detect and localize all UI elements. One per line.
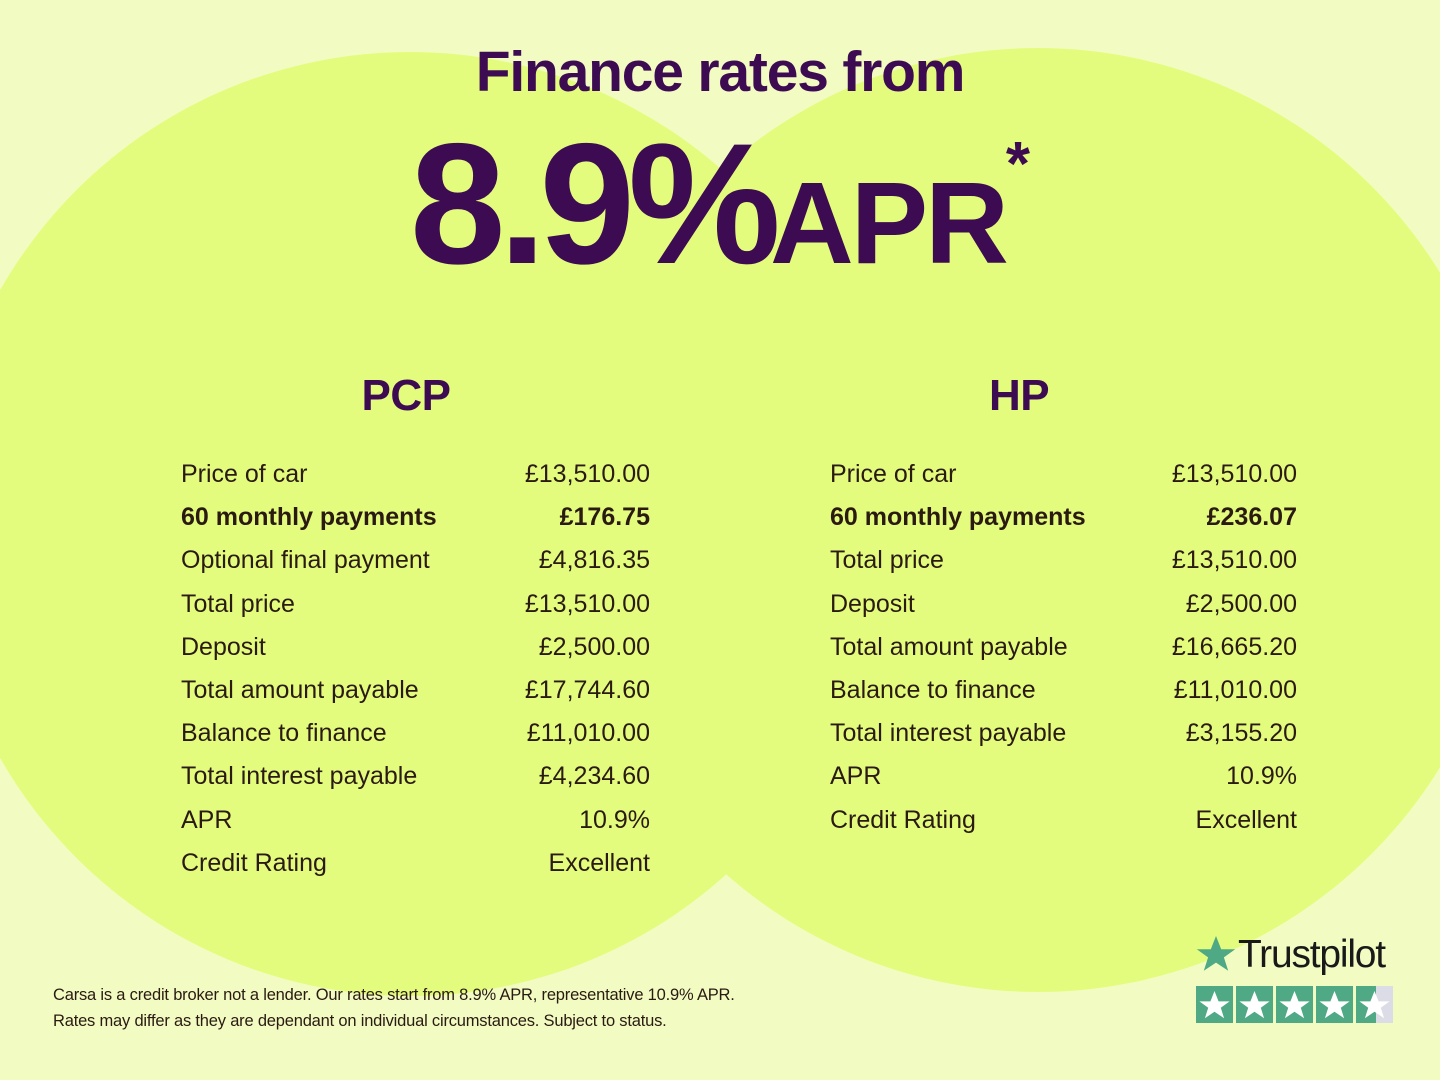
table-row: Balance to finance£11,010.00 (160, 721, 660, 764)
table-row: 60 monthly payments£236.07 (810, 505, 1308, 548)
row-label: Total interest payable (830, 721, 1066, 746)
row-label: APR (830, 764, 881, 789)
row-value: £16,665.20 (1172, 635, 1297, 660)
row-value: £4,234.60 (539, 764, 650, 789)
star-icon (1276, 986, 1313, 1023)
row-label: Price of car (830, 462, 956, 487)
table-row: APR10.9% (810, 764, 1308, 807)
row-value: £13,510.00 (1172, 548, 1297, 573)
finance-table-hp: HP Price of car£13,510.0060 monthly paym… (810, 374, 1308, 851)
row-label: APR (181, 808, 232, 833)
row-label: 60 monthly payments (830, 505, 1086, 530)
star-icon (1316, 986, 1353, 1023)
trustpilot-logo: Trustpilot (1196, 930, 1396, 978)
trustpilot-star-2[interactable] (1236, 986, 1273, 1023)
footnote-asterisk: * (1006, 130, 1030, 199)
row-value: £4,816.35 (539, 548, 650, 573)
row-label: Price of car (181, 462, 307, 487)
table-row: Credit RatingExcellent (160, 851, 660, 894)
trustpilot-star-icon (1196, 935, 1236, 973)
rate-percentage: 8.9% (410, 118, 774, 290)
table-row: Total interest payable£3,155.20 (810, 721, 1308, 764)
row-label: Total amount payable (830, 635, 1068, 660)
row-label: Total price (830, 548, 944, 573)
trustpilot-star-3[interactable] (1276, 986, 1313, 1023)
page-title: Finance rates from (0, 44, 1440, 101)
table-row: Total interest payable£4,234.60 (160, 764, 660, 807)
table-row: Credit RatingExcellent (810, 808, 1308, 851)
trustpilot-wordmark-text: Trustpilot (1238, 935, 1385, 974)
rate-unit-text: APR (770, 158, 1006, 288)
row-value: Excellent (1196, 808, 1297, 833)
rate-unit-label: APR* (770, 165, 1030, 281)
trustpilot-rating-stars[interactable] (1196, 986, 1396, 1023)
table-row: Deposit£2,500.00 (810, 592, 1308, 635)
headline-rate: 8.9% APR* (0, 118, 1440, 318)
table-row: Optional final payment£4,816.35 (160, 548, 660, 591)
row-value: £13,510.00 (525, 462, 650, 487)
row-value: £3,155.20 (1186, 721, 1297, 746)
trustpilot-star-1[interactable] (1196, 986, 1233, 1023)
row-value: £176.75 (560, 505, 650, 530)
table-row: APR10.9% (160, 808, 660, 851)
star-icon (1356, 986, 1393, 1023)
row-value: £13,510.00 (1172, 462, 1297, 487)
row-label: Deposit (181, 635, 266, 660)
row-value: £236.07 (1207, 505, 1297, 530)
table-row: Total amount payable£17,744.60 (160, 678, 660, 721)
trustpilot-star-5[interactable] (1356, 986, 1393, 1023)
row-label: Credit Rating (181, 851, 327, 876)
row-value: £2,500.00 (539, 635, 650, 660)
row-label: Total amount payable (181, 678, 419, 703)
row-label: 60 monthly payments (181, 505, 437, 530)
row-value: £11,010.00 (1174, 678, 1297, 703)
trustpilot-widget[interactable]: Trustpilot (1196, 930, 1396, 1023)
star-icon (1236, 986, 1273, 1023)
table-title-hp: HP (810, 374, 1308, 426)
table-row: Deposit£2,500.00 (160, 635, 660, 678)
row-value: £13,510.00 (525, 592, 650, 617)
row-label: Optional final payment (181, 548, 430, 573)
row-label: Credit Rating (830, 808, 976, 833)
table-row: Total price£13,510.00 (810, 548, 1308, 591)
table-row: Total price£13,510.00 (160, 592, 660, 635)
row-value: £11,010.00 (527, 721, 650, 746)
disclaimer-line-2: Rates may differ as they are dependant o… (53, 1009, 813, 1035)
disclaimer-line-1: Carsa is a credit broker not a lender. O… (53, 983, 813, 1009)
poster-canvas: Finance rates from 8.9% APR* PCP Price o… (0, 0, 1440, 1080)
row-label: Balance to finance (830, 678, 1036, 703)
row-value: 10.9% (1226, 764, 1297, 789)
trustpilot-star-4[interactable] (1316, 986, 1353, 1023)
row-label: Balance to finance (181, 721, 387, 746)
row-value: 10.9% (579, 808, 650, 833)
table-rows-hp: Price of car£13,510.0060 monthly payment… (810, 462, 1308, 851)
star-icon (1196, 986, 1233, 1023)
row-label: Total price (181, 592, 295, 617)
legal-disclaimer: Carsa is a credit broker not a lender. O… (53, 983, 813, 1034)
row-label: Deposit (830, 592, 915, 617)
row-value: £17,744.60 (525, 678, 650, 703)
row-label: Total interest payable (181, 764, 417, 789)
row-value: Excellent (549, 851, 650, 876)
table-row: Balance to finance£11,010.00 (810, 678, 1308, 721)
row-value: £2,500.00 (1186, 592, 1297, 617)
table-title-pcp: PCP (160, 374, 660, 426)
table-row: Price of car£13,510.00 (160, 462, 660, 505)
table-row: 60 monthly payments£176.75 (160, 505, 660, 548)
table-rows-pcp: Price of car£13,510.0060 monthly payment… (160, 462, 660, 894)
table-row: Total amount payable£16,665.20 (810, 635, 1308, 678)
finance-table-pcp: PCP Price of car£13,510.0060 monthly pay… (160, 374, 660, 894)
table-row: Price of car£13,510.00 (810, 462, 1308, 505)
